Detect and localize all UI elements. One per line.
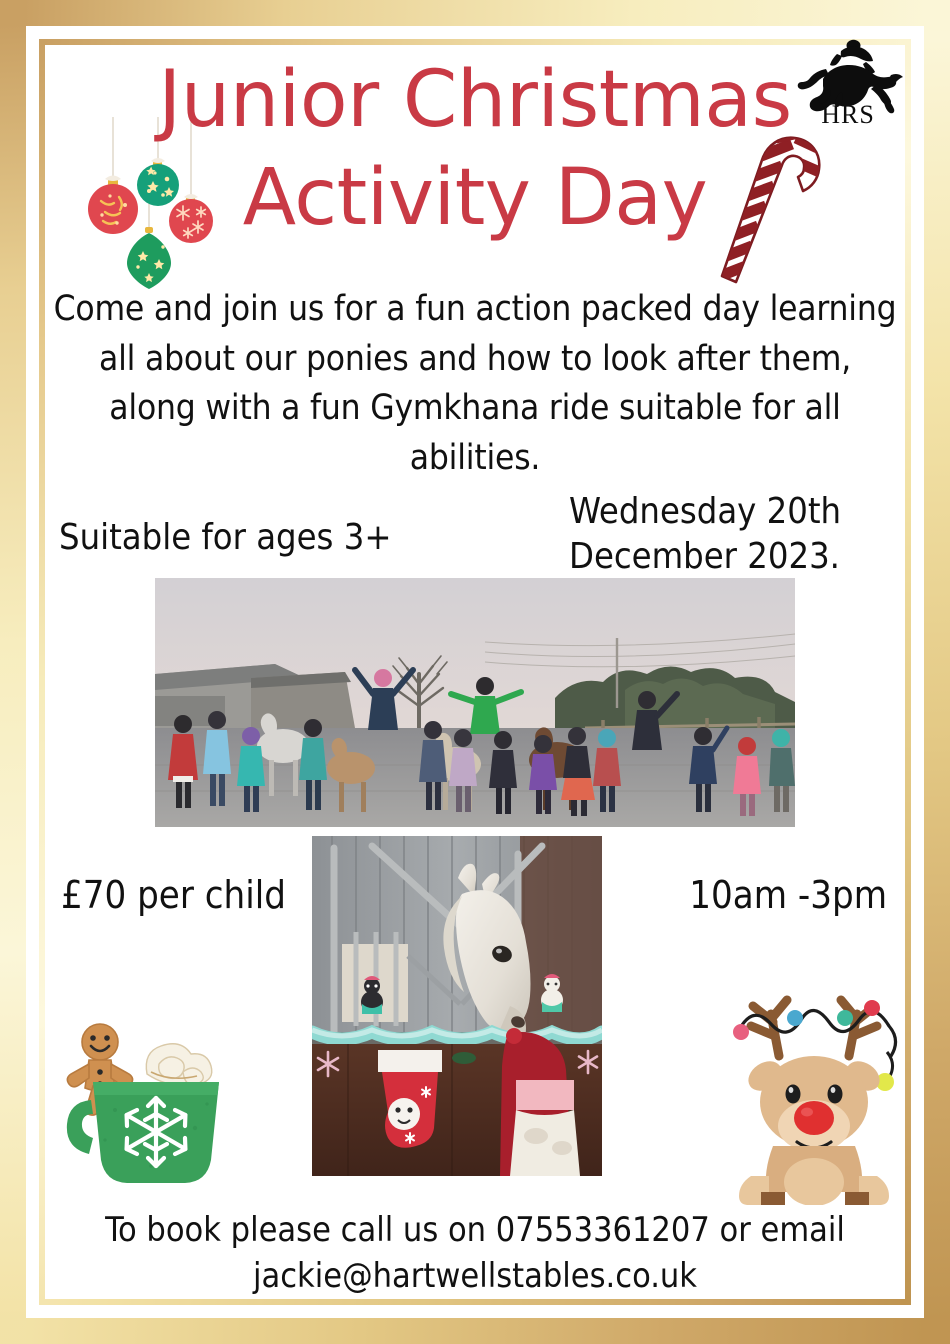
title-line-one: Junior Christmas xyxy=(45,61,905,139)
poster-content-area: HRS xyxy=(45,45,905,1299)
price-info: £70 per child xyxy=(61,873,286,917)
poster-title: Junior Christmas Activity Day xyxy=(45,61,905,237)
stable-horse-photo xyxy=(312,836,602,1176)
title-line-two: Activity Day xyxy=(45,159,905,237)
group-photo xyxy=(155,578,795,827)
hrs-logo-text: HRS xyxy=(821,100,875,129)
reindeer-icon xyxy=(733,1000,896,1205)
booking-footer: To book please call us on 07553361207 or… xyxy=(55,1208,895,1300)
date-info: Wednesday 20th December 2023. xyxy=(569,489,899,580)
cocoa-mug-decoration xyxy=(55,1000,255,1185)
ages-info: Suitable for ages 3+ xyxy=(59,515,459,560)
hrs-logo: HRS xyxy=(793,31,903,131)
poster-canvas: HRS xyxy=(0,0,950,1344)
intro-paragraph: Come and join us for a fun action packed… xyxy=(53,285,897,484)
reindeer-decoration xyxy=(717,970,912,1205)
cocoa-mug-gingerbread-icon xyxy=(67,1024,219,1183)
time-info: 10am -3pm xyxy=(689,873,887,917)
